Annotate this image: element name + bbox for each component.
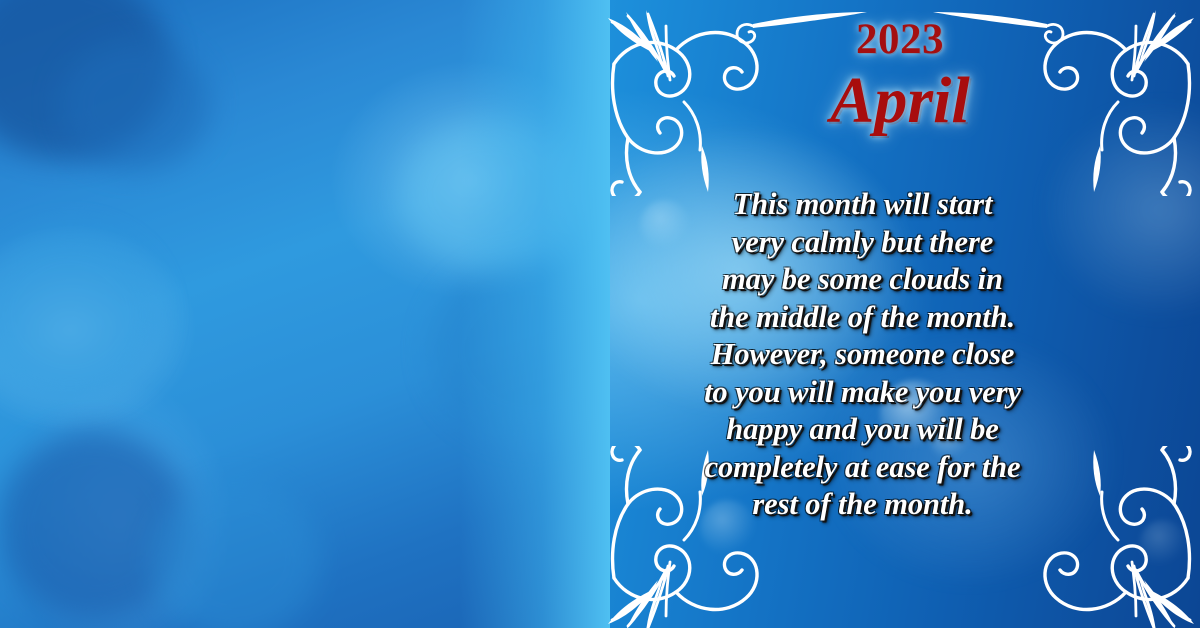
body-line: very calmly but there [660,224,1065,262]
artwork-illustration [0,0,610,628]
title-block: 2023 April [600,18,1200,134]
body-line: the middle of the month. [660,299,1065,337]
artwork-edge-fade [460,0,610,628]
horoscope-card: 2023 April This month will start very ca… [0,0,1200,628]
month-label: April [600,68,1200,134]
year-label: 2023 [600,18,1200,61]
body-line: may be some clouds in [660,261,1065,299]
bokeh-dot [1140,520,1186,566]
body-line: completely at ease for the [660,449,1065,487]
horoscope-body-text: This month will start very calmly but th… [660,186,1065,524]
body-line: to you will make you very [660,374,1065,412]
body-line: This month will start [660,186,1065,224]
background-foliage-blob [60,40,210,170]
body-line: rest of the month. [660,486,1065,524]
background-foliage-blob [150,480,320,628]
body-line: happy and you will be [660,411,1065,449]
body-line: However, someone close [660,336,1065,374]
